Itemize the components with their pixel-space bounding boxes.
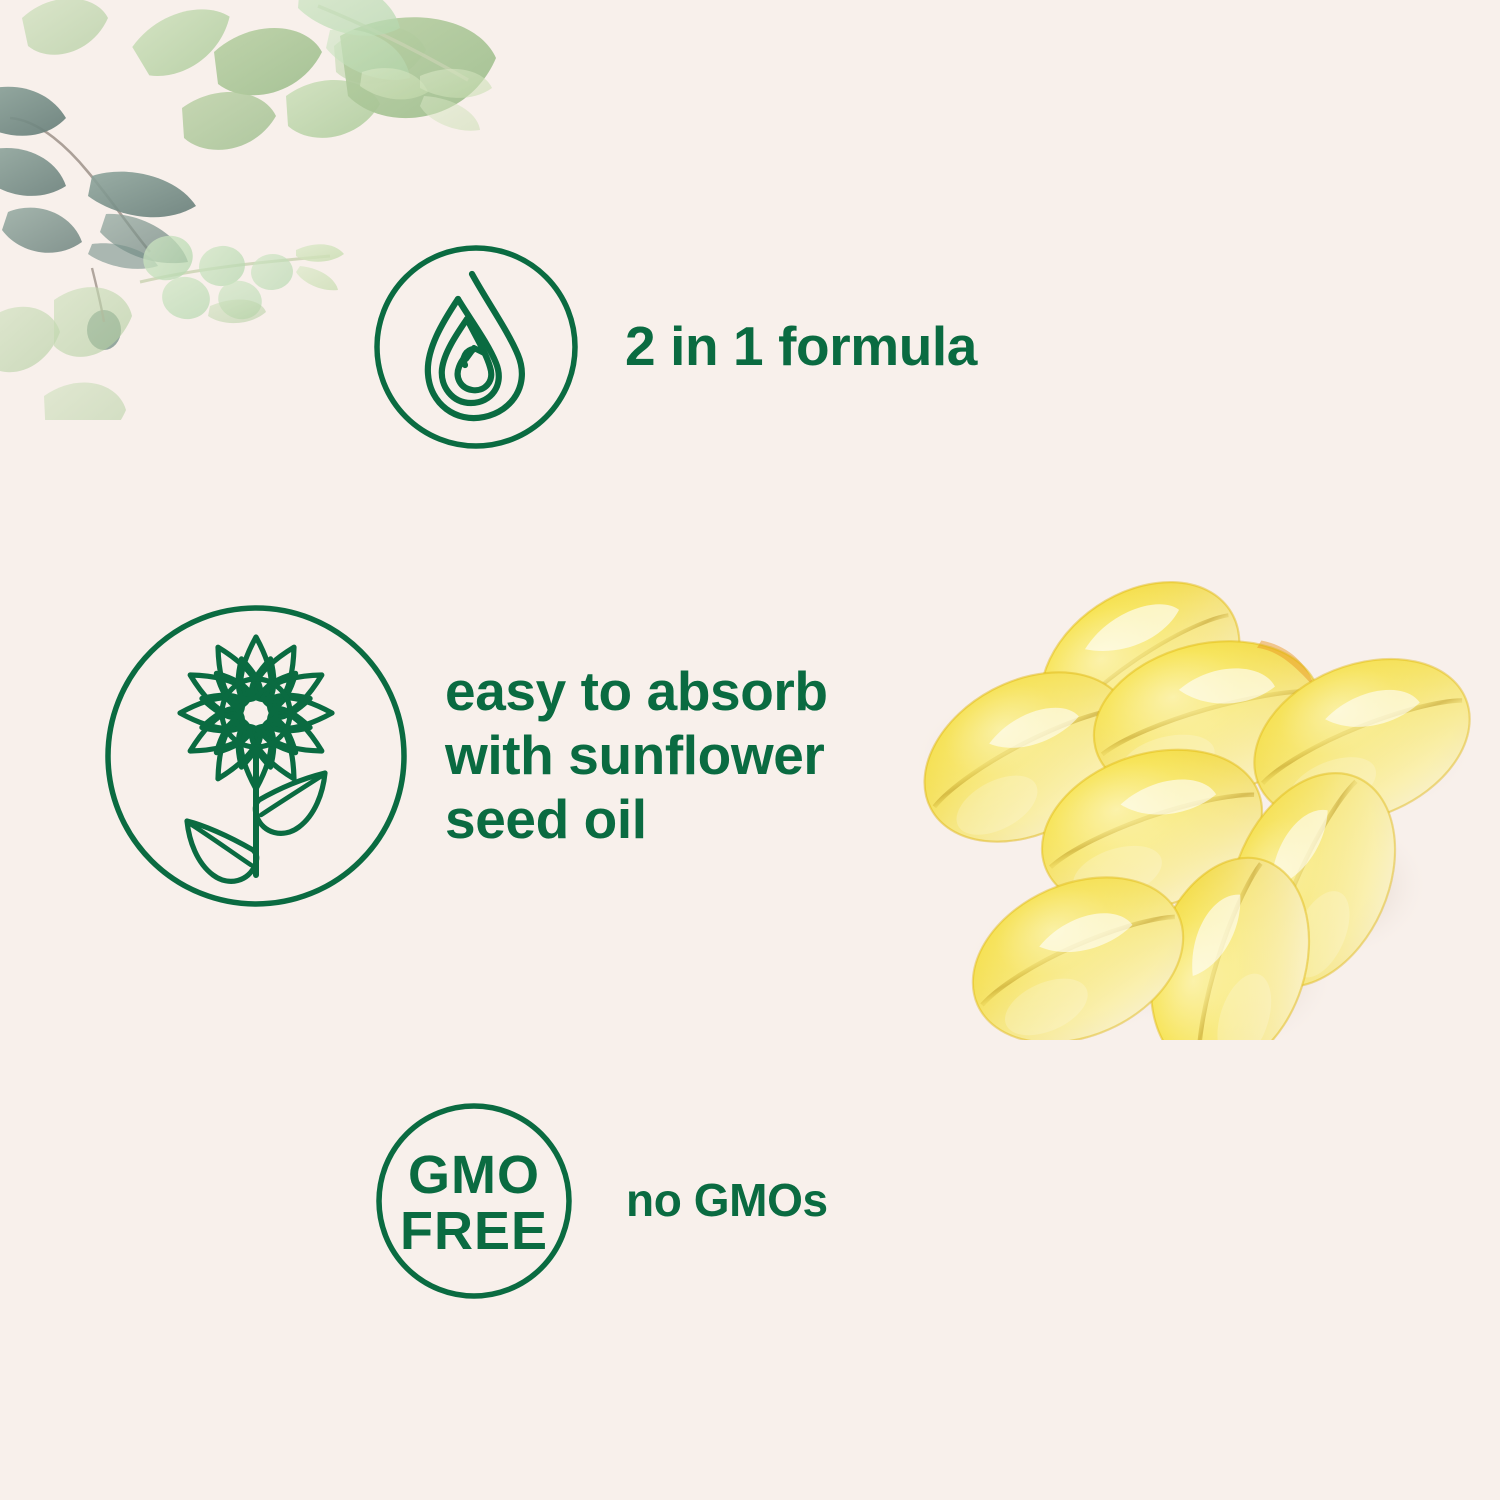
capsule	[947, 846, 1210, 1040]
capsule	[1007, 546, 1272, 794]
capsule	[1197, 747, 1427, 1013]
leaf-cluster-upper	[22, 0, 426, 150]
capsule	[1077, 618, 1337, 821]
capsule	[1021, 723, 1283, 937]
feature-row-gmo: GMO FREE no GMOs	[374, 1101, 828, 1301]
capsule	[1125, 837, 1336, 1040]
gmo-free-badge-icon: GMO FREE	[374, 1101, 574, 1301]
gmo-badge-line-2: FREE	[400, 1201, 548, 1261]
gmo-badge-line-1: GMO	[408, 1145, 540, 1205]
eucalyptus-sprig-left	[137, 229, 344, 324]
softgel-capsule-cluster	[900, 495, 1500, 1040]
feature-row-absorb: easy to absorb with sunflower seed oil	[103, 603, 828, 909]
eucalyptus-sprig-top-right	[298, 0, 492, 131]
leaf-single-center	[340, 17, 496, 118]
water-drop-spiral-icon	[372, 243, 580, 451]
capsule	[1230, 629, 1495, 854]
olive-branch-slate	[0, 87, 196, 350]
feature-label-gmo: no GMOs	[626, 1175, 828, 1227]
sunflower-icon	[103, 603, 409, 909]
feature-row-formula: 2 in 1 formula	[372, 243, 977, 451]
product-benefits-panel: 2 in 1 formula	[0, 0, 1500, 1500]
feature-label-absorb: easy to absorb with sunflower seed oil	[445, 660, 828, 851]
capsule	[900, 638, 1161, 875]
leaf-scatter-lower	[0, 287, 266, 420]
capsule-shadows	[912, 603, 1476, 1040]
feature-label-formula: 2 in 1 formula	[625, 316, 977, 378]
